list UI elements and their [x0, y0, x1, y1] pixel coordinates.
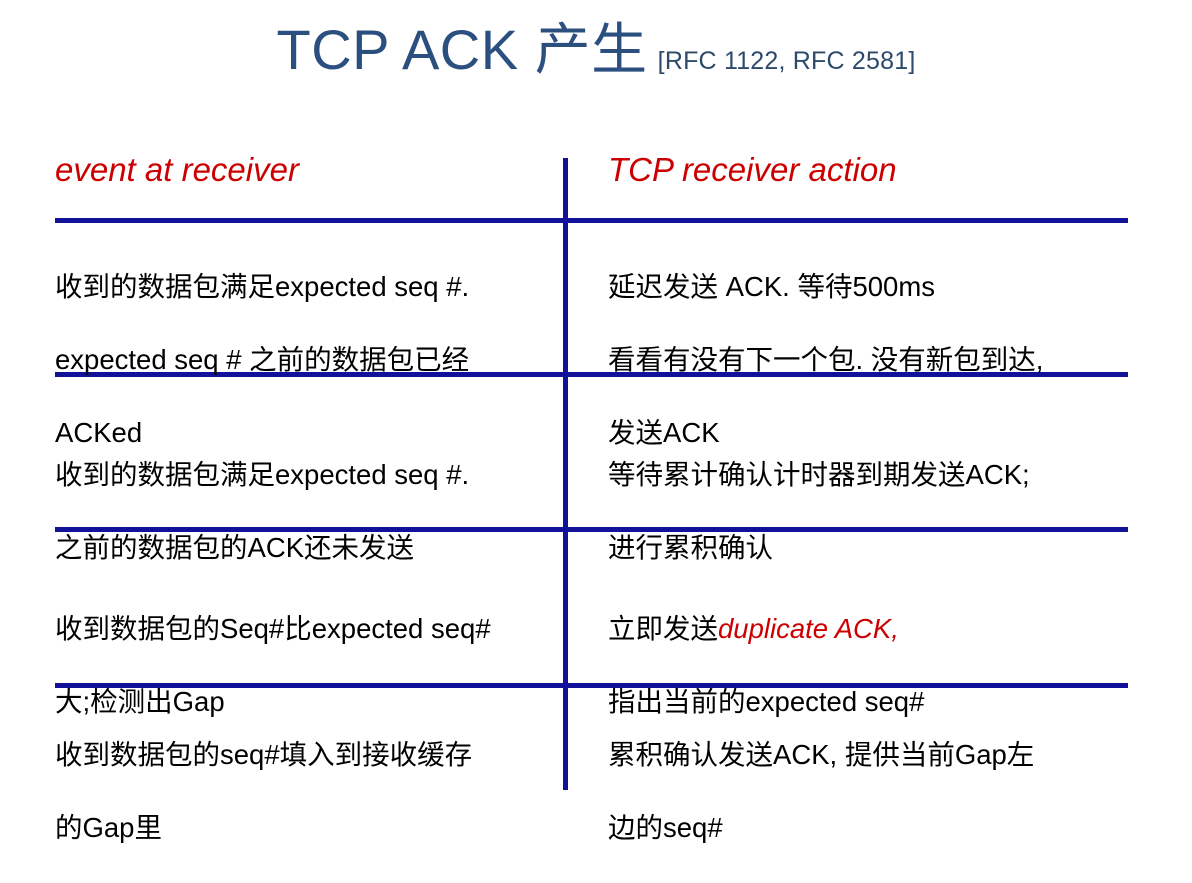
row-2-action-line-1: 等待累计确认计时器到期发送ACK; [608, 457, 1128, 494]
row-2-event-line-1: 收到的数据包满足expected seq #. [55, 457, 555, 494]
row-divider-line-1 [55, 218, 1128, 223]
row-1-event-line-2: expected seq # 之前的数据包已经 [55, 342, 555, 379]
row-3-action-emphasis: duplicate ACK, [718, 613, 899, 644]
row-3-event-line-1: 收到数据包的Seq#比expected seq# [55, 611, 555, 648]
ack-rules-table: event at receiver TCP receiver action 收到… [55, 130, 1128, 795]
row-3-action-line-1: 立即发送duplicate ACK, [608, 611, 1128, 648]
row-2-action-line-2: 进行累积确认 [608, 530, 1128, 567]
row-4-event-line-2: 的Gap里 [55, 810, 555, 847]
row-1-event-line-1: 收到的数据包满足expected seq #. [55, 269, 555, 306]
row-1-action-line-2: 看看有没有下一个包. 没有新包到达, [608, 342, 1128, 379]
row-3-action-prefix: 立即发送 [608, 613, 718, 644]
page-title: TCP ACK 产生[RFC 1122, RFC 2581] [0, 22, 1192, 78]
title-main-text: TCP ACK 产生 [277, 18, 648, 81]
row-4-action-line-2: 边的seq# [608, 810, 1128, 847]
row-1-action-line-1: 延迟发送 ACK. 等待500ms [608, 269, 1128, 306]
column-header-event: event at receiver [55, 152, 299, 188]
title-citation-text: [RFC 1122, RFC 2581] [658, 47, 916, 75]
column-header-action: TCP receiver action [608, 152, 897, 188]
table-row-4-action-cell: 累积确认发送ACK, 提供当前Gap左 边的seq# [608, 700, 1128, 883]
row-2-event-line-2: 之前的数据包的ACK还未发送 [55, 530, 555, 567]
row-4-event-line-1: 收到数据包的seq#填入到接收缓存 [55, 737, 555, 774]
column-divider-line [563, 158, 568, 790]
table-row-4-event-cell: 收到数据包的seq#填入到接收缓存 的Gap里 [55, 700, 555, 883]
row-4-action-line-1: 累积确认发送ACK, 提供当前Gap左 [608, 737, 1128, 774]
